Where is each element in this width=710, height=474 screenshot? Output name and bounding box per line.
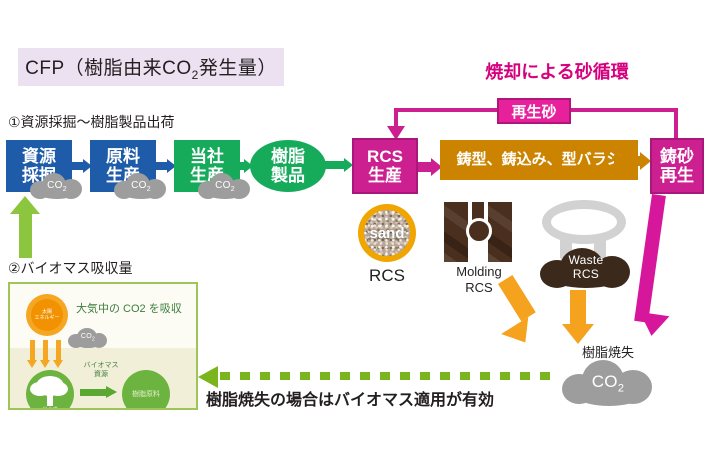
co2-cloud-small-icon: CO2 (68, 328, 108, 348)
arrow-resource-to-material-icon (72, 159, 92, 173)
arrow-material-to-company-icon (156, 159, 176, 173)
box-label-line2: 生産 (368, 166, 402, 185)
sun-label-line2: エネルギー (34, 315, 59, 321)
co2-label: CO (81, 333, 92, 340)
recycled-sand-line-right (674, 108, 678, 140)
arrow-casting-to-sand-regen-icon (614, 152, 652, 170)
cfp-banner-tail: 発生量） (199, 58, 277, 79)
co2-label: CO (47, 180, 63, 191)
cfp-banner: CFP（樹脂由来CO2発生量） (18, 48, 284, 86)
waste-caption-line1: Waste (568, 253, 603, 267)
biomass-resource-line1: バイオマス (84, 362, 119, 369)
waste-caption-line2: RCS (573, 267, 599, 281)
sand-caption: RCS (352, 266, 422, 286)
biomass-absorption-arrow-icon (10, 196, 40, 258)
box-label-line1: 原料 (106, 147, 140, 166)
box-label-line1: 資源 (22, 147, 56, 166)
biomass-panel: 太陽 エネルギー 大気中の CO2 を吸収 CO2 光合成 バイオマス 資源 樹… (8, 282, 198, 410)
sand-cycle-title: 焼却による砂循環 (442, 58, 672, 84)
co2-label: CO (592, 372, 618, 391)
box-label-line1: 鋳型、鋳込み、型バラシ (457, 152, 622, 169)
box-label-line1: 樹脂 (271, 147, 305, 166)
box-label-line1: 当社 (190, 147, 224, 166)
arrow-molding-to-burn-icon (492, 284, 538, 346)
process-ellipse-resin-product[interactable]: 樹脂製品 (250, 140, 326, 192)
biomass-resource-line2: 資源 (94, 371, 108, 378)
co2-cloud-icon: CO2 (114, 173, 168, 199)
photosynthesis-label: 光合成 (26, 406, 74, 410)
sun-label: 太陽 エネルギー (34, 309, 59, 321)
sun-ray-down-icon (30, 340, 35, 362)
arrow-rcs-to-casting-icon (418, 158, 442, 176)
co2-subscript: 2 (147, 186, 151, 193)
recycled-sand-badge: 再生砂 (497, 98, 571, 124)
photosynthesis-tree-icon: 光合成 (26, 370, 74, 410)
box-label-line1: RCS (367, 147, 403, 166)
co2-subscript: 2 (63, 186, 67, 193)
mold-cavity (466, 218, 492, 244)
co2-label: CO (131, 180, 147, 191)
arrow-waste-to-burn-icon (566, 290, 590, 346)
atmosphere-absorb-text: 大気中の CO2 を吸収 (76, 300, 182, 316)
co2-subscript: 2 (92, 337, 95, 343)
process-box-rcs-production[interactable]: RCS生産 (352, 138, 418, 194)
dotted-return-arrowhead-icon (198, 366, 218, 388)
process-box-sand-regeneration[interactable]: 鋳砂再生 (650, 138, 704, 194)
section-2-label: ②バイオマス吸収量 (8, 258, 133, 278)
resin-material-icon: 樹脂原料 (122, 370, 170, 410)
molding-rcs-photo-icon (444, 202, 512, 262)
molding-caption-line1: Molding (456, 264, 502, 279)
cfp-banner-text: CFP（樹脂由来CO2発生量） (25, 53, 277, 82)
biomass-resource-label: バイオマス 資源 (76, 362, 126, 380)
cfp-banner-main: CFP（樹脂由来CO (25, 58, 192, 79)
sun-icon: 太陽 エネルギー (26, 294, 68, 336)
box-label-line1: 鋳砂 (660, 147, 694, 166)
cfp-banner-subscript: 2 (192, 67, 199, 81)
mold-block-left (444, 202, 468, 262)
section-1-label: ①資源採掘～樹脂製品出荷 (8, 112, 175, 132)
co2-subscript: 2 (231, 186, 235, 193)
sand-photo-icon: sand (358, 204, 416, 262)
arrow-biomass-to-resin-icon (80, 386, 118, 398)
bottom-note: 樹脂焼失の場合はバイオマス適用が有効 (206, 386, 566, 410)
process-box-casting[interactable]: 鋳型、鋳込み、型バラシ (440, 140, 638, 180)
box-label-line2: 製品 (271, 166, 305, 185)
casting-part-icon (542, 200, 626, 244)
arrow-product-to-rcs-icon (324, 158, 354, 172)
box-label-line2: 再生 (660, 166, 694, 185)
co2-subscript: 2 (618, 382, 624, 394)
recycled-sand-line-left (394, 108, 398, 128)
dotted-return-line (220, 372, 560, 380)
co2-label: CO (215, 180, 231, 191)
sand-word-label: sand (369, 225, 404, 242)
sand-texture: sand (364, 210, 410, 256)
resin-material-label: 樹脂原料 (132, 389, 160, 399)
arrow-sand-regen-to-burn-icon (638, 194, 682, 350)
co2-cloud-large-icon: CO2 (562, 360, 654, 406)
waste-rcs-icon: WasteRCS (540, 248, 632, 288)
molding-caption-line2: RCS (465, 280, 492, 295)
resin-burn-loss-label: 樹脂焼失 (556, 342, 660, 361)
sun-ray-down-icon (56, 340, 61, 362)
diagram-canvas: CFP（樹脂由来CO2発生量） 焼却による砂循環 ①資源採掘～樹脂製品出荷 ②バ… (0, 0, 710, 474)
co2-cloud-icon: CO2 (198, 173, 252, 199)
sun-ray-down-icon (43, 340, 48, 362)
